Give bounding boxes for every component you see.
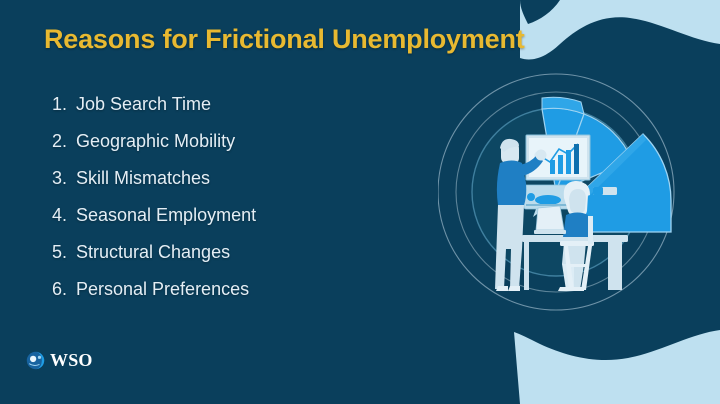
list-item: 4. Seasonal Employment	[52, 197, 432, 234]
list-item-number: 4.	[52, 197, 76, 234]
wave-bottom-right-icon	[514, 330, 720, 404]
wave-top-right-icon	[520, 0, 720, 59]
page-title: Reasons for Frictional Unemployment	[44, 24, 525, 55]
list-item-number: 3.	[52, 160, 76, 197]
list-item: 6. Personal Preferences	[52, 271, 432, 308]
business-analytics-illustration	[438, 56, 720, 326]
list-item-number: 5.	[52, 234, 76, 271]
list-item-label: Skill Mismatches	[76, 160, 210, 197]
wave-top-notch-icon	[520, 0, 560, 24]
logo-text: WSO	[50, 350, 93, 371]
desk-leg-left-icon	[524, 242, 529, 290]
list-item: 3. Skill Mismatches	[52, 160, 432, 197]
list-item-number: 2.	[52, 123, 76, 160]
list-item: 2. Geographic Mobility	[52, 123, 432, 160]
globe-icon	[26, 351, 45, 370]
list-item: 1. Job Search Time	[52, 86, 432, 123]
desk-leg-right-icon	[608, 242, 622, 290]
list-item-number: 1.	[52, 86, 76, 123]
wso-logo[interactable]: WSO	[26, 350, 93, 371]
reasons-list: 1. Job Search Time 2. Geographic Mobilit…	[52, 86, 432, 308]
list-item-label: Personal Preferences	[76, 271, 249, 308]
list-item-label: Seasonal Employment	[76, 197, 256, 234]
label-tag-accent-icon	[593, 187, 603, 195]
slide-canvas: Reasons for Frictional Unemployment 1. J…	[0, 0, 720, 404]
list-item-number: 6.	[52, 271, 76, 308]
list-item: 5. Structural Changes	[52, 234, 432, 271]
list-item-label: Job Search Time	[76, 86, 211, 123]
list-item-label: Structural Changes	[76, 234, 230, 271]
list-item-label: Geographic Mobility	[76, 123, 235, 160]
